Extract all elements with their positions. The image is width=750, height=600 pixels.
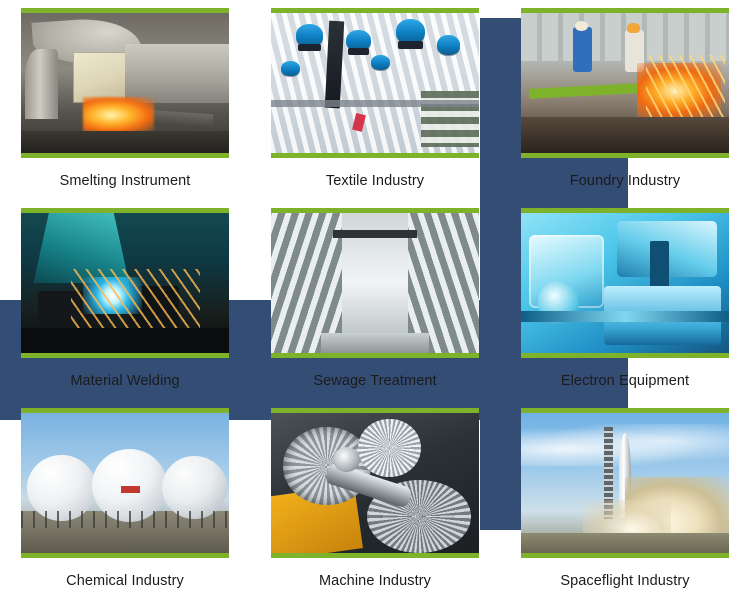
green-bottom-bar bbox=[271, 553, 479, 558]
gallery-grid: Smelting Instrument bbox=[0, 0, 750, 600]
card[interactable] bbox=[271, 408, 479, 558]
green-bottom-bar bbox=[521, 353, 729, 358]
photo-textile-industry bbox=[271, 13, 479, 153]
gallery-cell-foundry-industry[interactable]: Foundry Industry bbox=[500, 0, 750, 200]
card[interactable] bbox=[21, 8, 229, 158]
caption-machine-industry: Machine Industry bbox=[319, 574, 431, 589]
green-bottom-bar bbox=[271, 353, 479, 358]
industry-gallery: Smelting Instrument bbox=[0, 0, 750, 600]
photo-foundry-industry bbox=[521, 13, 729, 153]
photo-material-welding bbox=[21, 213, 229, 353]
gallery-cell-machine-industry[interactable]: Machine Industry bbox=[250, 400, 500, 600]
photo-chemical-industry bbox=[21, 413, 229, 553]
caption-chemical-industry: Chemical Industry bbox=[66, 574, 184, 589]
gallery-cell-sewage-treatment[interactable]: Sewage Treatment bbox=[250, 200, 500, 400]
gallery-cell-material-welding[interactable]: Material Welding bbox=[0, 200, 250, 400]
gallery-cell-smelting-instrument[interactable]: Smelting Instrument bbox=[0, 0, 250, 200]
card[interactable] bbox=[271, 208, 479, 358]
photo-smelting-instrument bbox=[21, 13, 229, 153]
gallery-cell-textile-industry[interactable]: Textile Industry bbox=[250, 0, 500, 200]
caption-textile-industry: Textile Industry bbox=[326, 174, 424, 189]
caption-sewage-treatment: Sewage Treatment bbox=[313, 374, 436, 389]
green-bottom-bar bbox=[21, 353, 229, 358]
card[interactable] bbox=[521, 208, 729, 358]
photo-electron-equipment bbox=[521, 213, 729, 353]
caption-spaceflight-industry: Spaceflight Industry bbox=[560, 574, 689, 589]
card[interactable] bbox=[21, 208, 229, 358]
photo-machine-industry bbox=[271, 413, 479, 553]
gallery-cell-spaceflight-industry[interactable]: Spaceflight Industry bbox=[500, 400, 750, 600]
photo-spaceflight-industry bbox=[521, 413, 729, 553]
card[interactable] bbox=[271, 8, 479, 158]
caption-foundry-industry: Foundry Industry bbox=[570, 174, 680, 189]
caption-material-welding: Material Welding bbox=[70, 374, 179, 389]
caption-electron-equipment: Electron Equipment bbox=[561, 374, 689, 389]
card[interactable] bbox=[521, 8, 729, 158]
green-bottom-bar bbox=[521, 153, 729, 158]
green-bottom-bar bbox=[521, 553, 729, 558]
gallery-cell-chemical-industry[interactable]: Chemical Industry bbox=[0, 400, 250, 600]
green-bottom-bar bbox=[21, 553, 229, 558]
caption-smelting-instrument: Smelting Instrument bbox=[60, 174, 191, 189]
card[interactable] bbox=[521, 408, 729, 558]
green-bottom-bar bbox=[21, 153, 229, 158]
photo-sewage-treatment bbox=[271, 213, 479, 353]
gallery-cell-electron-equipment[interactable]: Electron Equipment bbox=[500, 200, 750, 400]
card[interactable] bbox=[21, 408, 229, 558]
green-bottom-bar bbox=[271, 153, 479, 158]
